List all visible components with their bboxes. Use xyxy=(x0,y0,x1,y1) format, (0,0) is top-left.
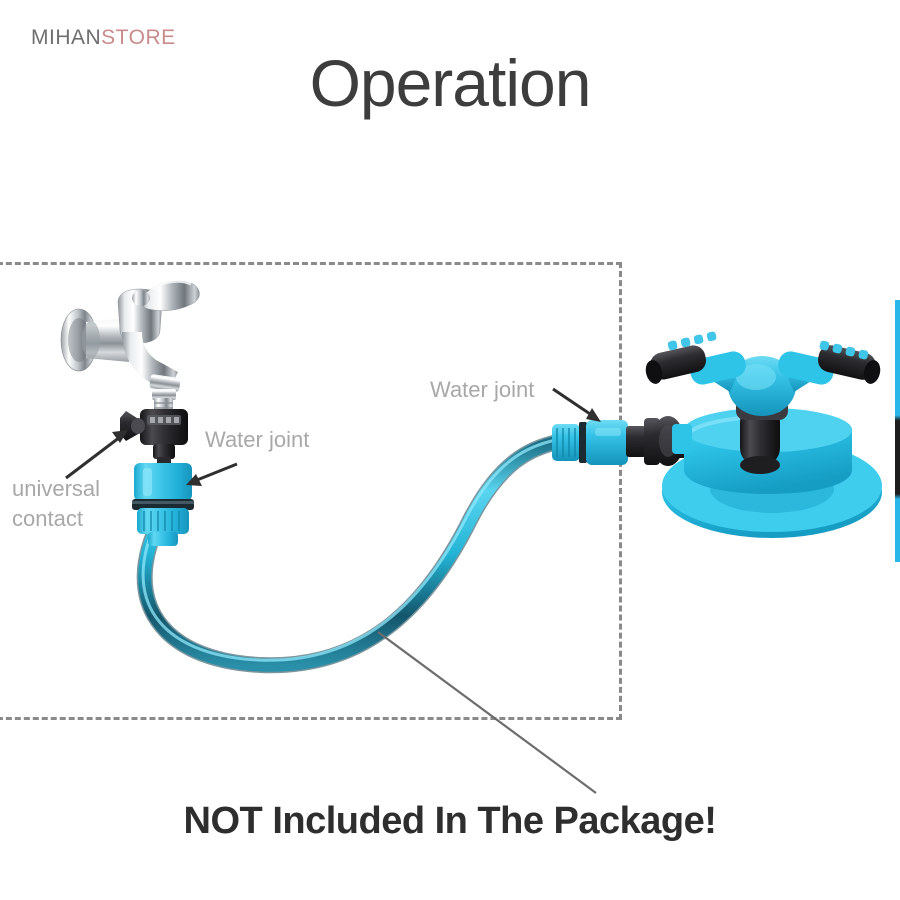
not-included-caption: NOT Included In The Package! xyxy=(0,800,900,843)
callout-universal-contact: universal contact xyxy=(12,474,100,533)
product-infographic: MIHANSTORE Operation xyxy=(0,0,900,900)
sprinkler-arm-left xyxy=(644,331,749,392)
callout-universal-contact-line1: universal xyxy=(12,474,100,504)
page-title: Operation xyxy=(0,45,900,121)
callout-water-joint-left: Water joint xyxy=(205,425,309,455)
callout-water-joint-right: Water joint xyxy=(430,375,534,405)
sprinkler-arm-right xyxy=(776,340,883,392)
rotary-sprinkler xyxy=(644,331,883,538)
callout-universal-contact-line2: contact xyxy=(12,504,100,534)
adjacent-image-edge-artifact xyxy=(895,300,900,562)
swivel-elbow xyxy=(626,416,694,466)
